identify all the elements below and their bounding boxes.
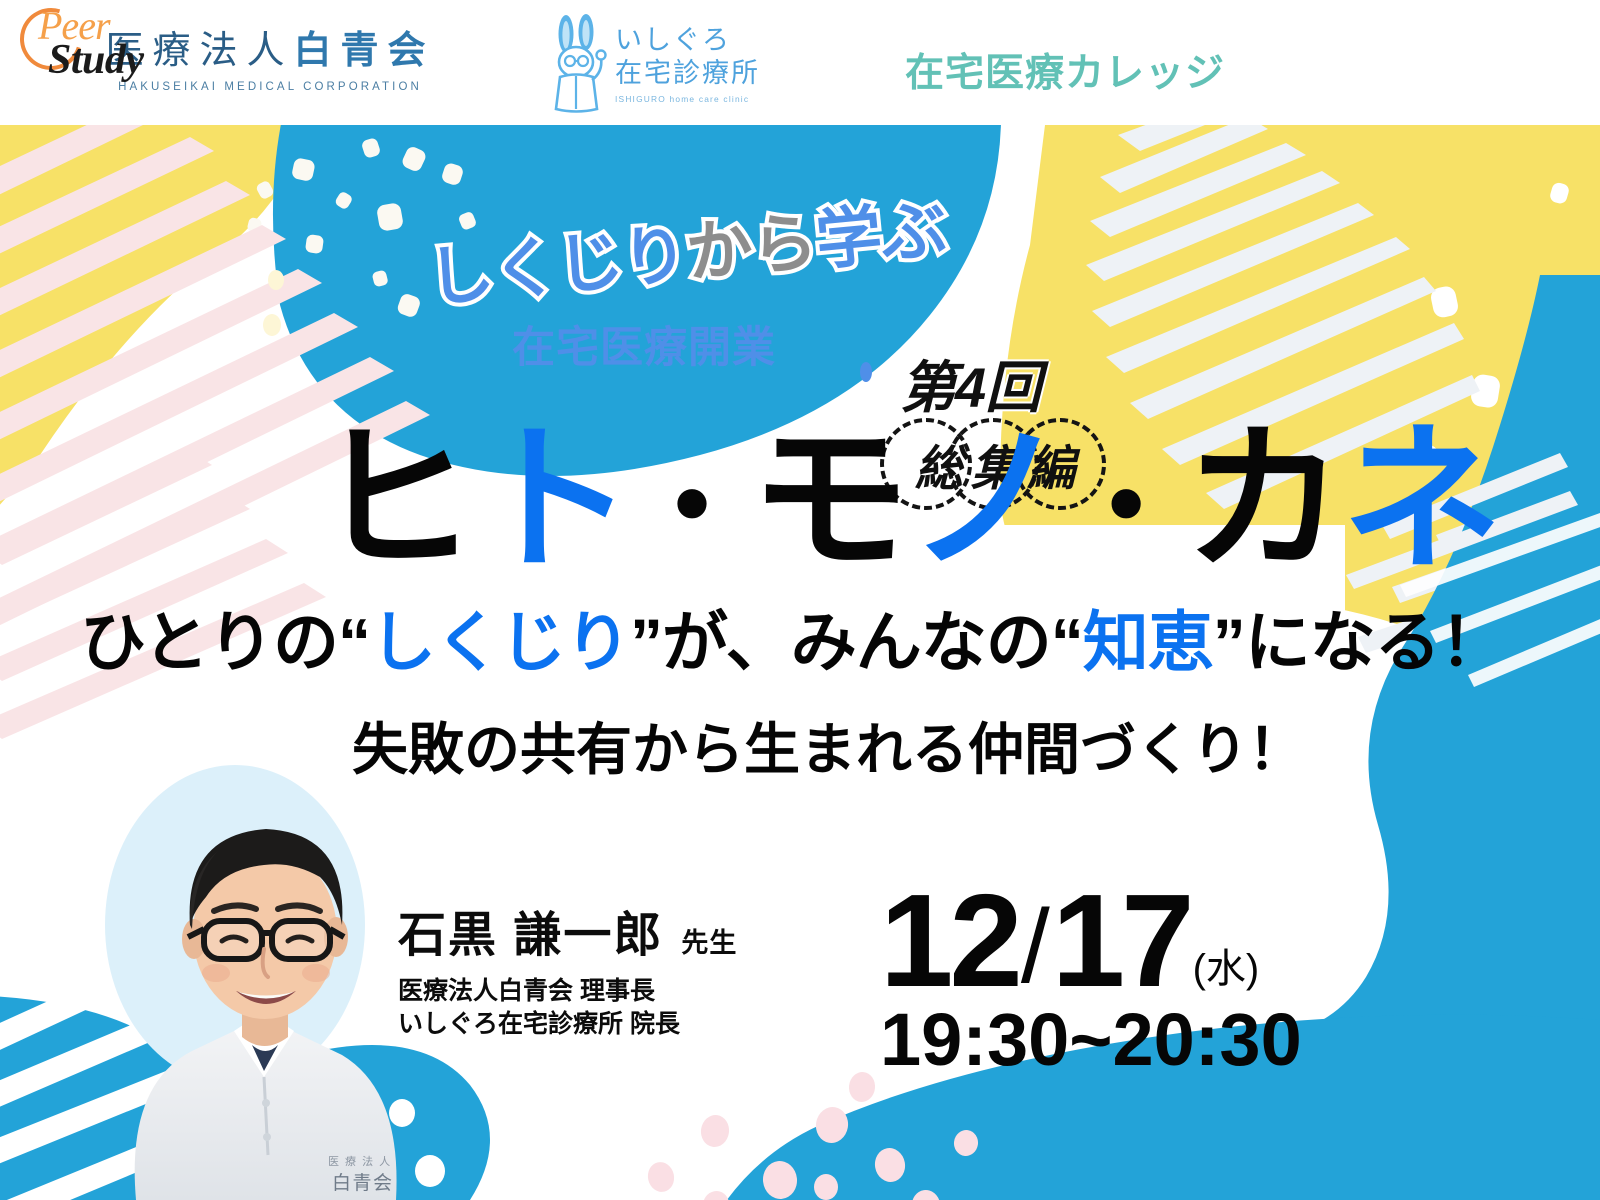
kicker-subline: 在宅医療開業	[512, 313, 776, 375]
schedule-block: 12 / 17 (水) 19:30~20:30	[880, 880, 1302, 1082]
logo-study-word: Study	[48, 36, 144, 84]
page-title: ヒト・モノ・カネ	[316, 420, 1500, 580]
logo-ishiguro[interactable]: いしぐろ 在宅診療所 ISHIGURO home care clinic	[545, 14, 760, 114]
logo-college-jp: 在宅医療カレッジ	[905, 42, 1225, 98]
title-dot-1: ・	[632, 441, 750, 575]
title-dot-2: ・	[1066, 441, 1184, 575]
speaker-portrait: 医 療 法 人 白青会	[96, 725, 426, 1200]
speaker-block: 石黒 謙一郎 先生 医療法人白青会 理事長 いしぐろ在宅診療所 院長	[398, 895, 737, 1041]
title-char-5: カ	[1184, 410, 1342, 589]
logo-ishiguro-en: ISHIGURO home care clinic	[615, 94, 760, 104]
event-dayofweek: (水)	[1193, 951, 1260, 1002]
title-char-3: モ	[750, 410, 908, 589]
logo-ishiguro-text: いしぐろ 在宅診療所 ISHIGURO home care clinic	[615, 24, 760, 104]
poster-canvas: 医 療 法 人 白青会	[0, 125, 1600, 1200]
speaker-affiliation: 医療法人白青会 理事長 いしぐろ在宅診療所 院長	[398, 975, 737, 1041]
logo-hakuseikai-jp: 医療法人白青会	[105, 32, 434, 72]
kicker-part2: から	[682, 188, 821, 296]
svg-text:白青会: 白青会	[332, 1172, 394, 1194]
title-char-2: ト	[474, 410, 632, 589]
event-day: 17	[1052, 880, 1191, 1001]
logo-zaitaku-iryo-college[interactable]: 在宅医療カレッジ	[905, 42, 1225, 98]
rabbit-doctor-icon	[545, 14, 611, 114]
header-logo-bar: 医療法人白青会 HAKUSEIKAI MEDICAL CORPORATION	[0, 0, 1600, 125]
event-month: 12	[880, 880, 1019, 1001]
lead1-c: ”が、みんなの“	[630, 605, 1083, 679]
title-char-1: ヒ	[316, 410, 474, 589]
speaker-honorific: 先生	[681, 921, 737, 965]
lead-line-2: 失敗の共有から生まれる仲間づくり！	[352, 705, 1304, 786]
lead1-a: ひとりの“	[80, 605, 370, 679]
speaker-affiliation-line2: いしぐろ在宅診療所 院長	[398, 1008, 737, 1041]
lead1-b: しくじり	[370, 605, 630, 679]
svg-text:医 療 法 人: 医 療 法 人	[328, 1154, 392, 1168]
logo-ishiguro-line2: 在宅診療所	[615, 57, 760, 90]
logo-hakuseikai-jp-highlight: 白青会	[294, 30, 435, 72]
title-char-6: ネ	[1342, 410, 1500, 589]
logo-ishiguro-line1: いしぐろ	[615, 24, 760, 57]
logo-hakuseikai-en: HAKUSEIKAI MEDICAL CORPORATION	[118, 81, 422, 93]
speaker-name-row: 石黒 謙一郎 先生	[398, 895, 737, 965]
lead1-e: ”になる！	[1213, 605, 1505, 679]
speaker-name: 石黒 謙一郎	[398, 895, 663, 965]
event-date: 12 / 17 (水)	[880, 880, 1302, 1001]
lead1-d: 知恵	[1083, 605, 1213, 679]
event-time: 19:30~20:30	[880, 997, 1302, 1082]
kicker-part3: 学ぶ	[811, 176, 950, 284]
date-separator: /	[1021, 900, 1050, 996]
title-char-4: ノ	[908, 410, 1066, 589]
lead-line-1: ひとりの“しくじり”が、みんなの“知恵”になる！	[80, 589, 1505, 685]
speaker-affiliation-line1: 医療法人白青会 理事長	[398, 975, 737, 1008]
